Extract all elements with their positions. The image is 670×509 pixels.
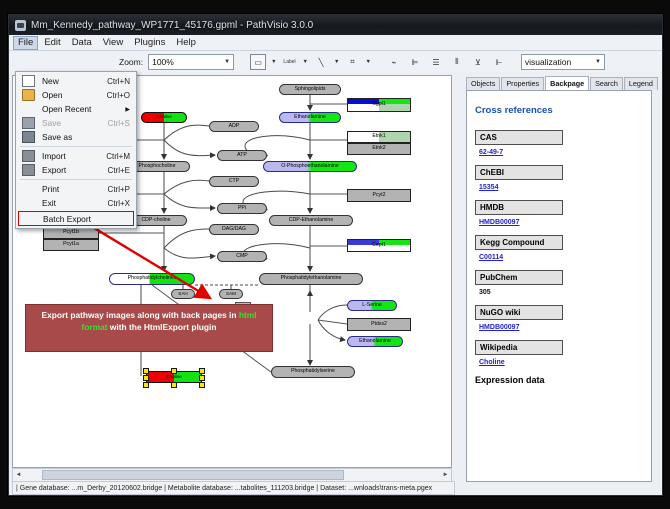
statusbar: | Gene database: ...m_Derby_20120602.bri…: [12, 481, 455, 495]
visualization-value: visualization: [525, 57, 571, 67]
xref-link[interactable]: 62-49-7: [479, 149, 651, 156]
menu-item-label: Open: [42, 90, 63, 100]
tab-legend[interactable]: Legend: [624, 77, 658, 90]
xref-link[interactable]: C00114: [479, 254, 651, 261]
node-label: Phosphatidylserine: [291, 369, 335, 374]
data-node-icon[interactable]: ▭: [250, 54, 266, 70]
gene-pcyt2[interactable]: Pcyt2: [347, 189, 411, 202]
node-label: PPi: [238, 206, 246, 211]
xref-db-label: PubChem: [475, 270, 563, 285]
xref-link[interactable]: HMDB00097: [479, 219, 651, 226]
node-label: Ethanolamine: [294, 115, 326, 120]
file-menu-dropdown: New Ctrl+N Open Ctrl+O Open Recent ▶ Sav…: [15, 71, 137, 229]
callout-text-post: with the HtmlExport plugin: [108, 322, 217, 332]
menu-item-open[interactable]: Open Ctrl+O: [16, 88, 136, 102]
xref-chebi: ChEBI 15354: [475, 165, 651, 191]
import-icon: [22, 150, 35, 162]
menu-help[interactable]: Help: [171, 36, 201, 50]
menu-plugins[interactable]: Plugins: [129, 36, 170, 50]
resize-handle[interactable]: [199, 375, 205, 381]
node-label: CMP: [236, 254, 248, 259]
resize-handle[interactable]: [171, 382, 177, 388]
save-as-icon: [22, 131, 35, 143]
window-title: Mm_Kennedy_pathway_WP1771_45176.gpml - P…: [31, 20, 313, 31]
node-label: Phosphatidylcholines: [128, 276, 177, 281]
node-label: Phosphocholine: [139, 164, 176, 169]
align-rows-icon[interactable]: ☰: [428, 54, 444, 70]
shape-icon[interactable]: ⌗: [344, 54, 360, 70]
menu-item-label: Export: [42, 165, 66, 175]
node-l-serine[interactable]: L-Serine: [347, 300, 397, 311]
gene-label: Etnk2: [372, 146, 385, 151]
node-phosphatidylethanolamine[interactable]: Phosphatidylethanolamine: [259, 273, 363, 285]
chevron-right-icon: ▶: [125, 106, 130, 113]
menu-item-accel: Ctrl+M: [106, 152, 130, 161]
resize-handle[interactable]: [171, 368, 177, 374]
menu-separator: [20, 146, 132, 147]
chevron-down-icon[interactable]: ▼: [271, 59, 276, 65]
visualization-combobox[interactable]: visualization ▼: [521, 54, 605, 70]
resize-handle[interactable]: [143, 382, 149, 388]
line-icon[interactable]: ╲: [313, 54, 329, 70]
node-label: O-Phosphoethanolamine: [281, 164, 338, 169]
node-ethanolamine-bottom[interactable]: Ethanolamine: [347, 336, 403, 347]
xref-wikipedia: Wikipedia Choline: [475, 340, 651, 366]
horizontal-scrollbar[interactable]: ◄ ►: [12, 468, 452, 482]
menu-data[interactable]: Data: [67, 36, 97, 50]
chevron-down-icon[interactable]: ▼: [334, 59, 339, 65]
menu-item-label: Print: [42, 184, 59, 194]
xref-nugo: NuGO wiki HMDB00097: [475, 305, 651, 331]
anchor-icon[interactable]: ⌁: [386, 54, 402, 70]
node-choline[interactable]: Choline: [141, 112, 187, 123]
zoom-combobox[interactable]: 100% ▼: [148, 54, 234, 70]
chevron-down-icon[interactable]: ▼: [303, 59, 308, 65]
application-window: Mm_Kennedy_pathway_WP1771_45176.gpml - P…: [8, 14, 663, 496]
xref-value: 305: [479, 289, 651, 296]
window-titlebar: Mm_Kennedy_pathway_WP1771_45176.gpml - P…: [9, 15, 662, 35]
zoom-value: 100%: [152, 57, 174, 67]
menu-item-batch-export[interactable]: Batch Export: [18, 211, 134, 226]
tab-backpage[interactable]: Backpage: [545, 76, 589, 91]
node-label: CDP-choline: [141, 218, 170, 223]
backpage-content: Cross references CAS 62-49-7 ChEBI 15354…: [466, 90, 652, 482]
align-columns-icon[interactable]: ⦀: [449, 54, 465, 70]
gene-sgpl1[interactable]: Sgpl1: [347, 98, 411, 112]
menu-item-label: Batch Export: [43, 214, 91, 224]
node-adp[interactable]: ADP: [209, 121, 259, 132]
gene-etnk1[interactable]: Etnk1: [347, 131, 411, 143]
pathvisio-icon: [15, 20, 26, 31]
menu-item-label: Import: [42, 151, 66, 161]
gene-label: Pcyt1a: [63, 242, 79, 247]
chevron-down-icon: ▼: [595, 59, 601, 65]
label-icon[interactable]: Label: [282, 54, 298, 70]
node-label: Phosphatidylethanolamine: [281, 276, 342, 281]
right-panel: Objects Properties Backpage Search Legen…: [456, 72, 662, 495]
menu-item-exit[interactable]: Exit Ctrl+X: [16, 196, 136, 210]
node-label: Choline: [156, 115, 172, 120]
node-cmp[interactable]: CMP: [217, 251, 267, 262]
zoom-label: Zoom:: [119, 57, 143, 67]
node-cdp-ethanolamine[interactable]: CDP-Ethanolamine: [269, 215, 353, 226]
node-label: Choline: [166, 375, 182, 380]
save-icon: [22, 117, 35, 129]
gene-ptdss2[interactable]: Ptdss2: [347, 318, 411, 331]
node-dag[interactable]: DAG/DAG: [209, 224, 259, 235]
cross-references-heading: Cross references: [475, 105, 651, 116]
menu-edit[interactable]: Edit: [39, 36, 65, 50]
tab-properties[interactable]: Properties: [501, 77, 544, 90]
menu-item-accel: Ctrl+P: [108, 185, 130, 194]
menu-item-save: Save Ctrl+S: [16, 116, 136, 130]
xref-kegg: Kegg Compound C00114: [475, 235, 651, 261]
menu-item-label: Save: [42, 118, 61, 128]
statusbar-text: | Gene database: ...m_Derby_20120602.bri…: [16, 485, 432, 492]
open-folder-icon: [22, 89, 35, 101]
menu-item-print[interactable]: Print Ctrl+P: [16, 182, 136, 196]
menu-item-accel: Ctrl+S: [108, 119, 130, 128]
node-label: SAM: [226, 292, 236, 297]
screenshot-root: Mm_Kennedy_pathway_WP1771_45176.gpml - P…: [0, 0, 670, 509]
node-label: SAH: [178, 292, 187, 297]
menu-item-import[interactable]: Import Ctrl+M: [16, 149, 136, 163]
node-sam[interactable]: SAM: [219, 289, 243, 299]
xref-db-label: ChEBI: [475, 165, 563, 180]
xref-db-label: Kegg Compound: [475, 235, 563, 250]
resize-handle[interactable]: [143, 375, 149, 381]
menu-item-label: Save as: [42, 132, 72, 142]
callout-text-pre: Export pathway images along with back pa…: [41, 310, 238, 320]
node-label: Sphingolipids: [295, 87, 326, 92]
node-ppi[interactable]: PPi: [217, 203, 267, 214]
node-label: L-Serine: [362, 303, 382, 308]
gene-label: Cept1: [372, 243, 386, 248]
node-ethanolamine-top[interactable]: Ethanolamine: [279, 112, 341, 123]
panel-tabs: Objects Properties Backpage Search Legen…: [456, 76, 659, 90]
xref-db-label: CAS: [475, 130, 563, 145]
menu-item-save-as[interactable]: Save as: [16, 130, 136, 144]
xref-pubchem: PubChem 305: [475, 270, 651, 296]
xref-db-label: HMDB: [475, 200, 563, 215]
node-label: Ethanolamine: [359, 339, 391, 344]
xref-hmdb: HMDB HMDB00097: [475, 200, 651, 226]
resize-handle[interactable]: [199, 368, 205, 374]
menu-item-label: Exit: [42, 198, 56, 208]
gene-label: Sgpl1: [372, 102, 385, 107]
resize-handle[interactable]: [199, 382, 205, 388]
node-phosphatidylcholines[interactable]: Phosphatidylcholines: [109, 273, 195, 285]
tab-search[interactable]: Search: [590, 77, 623, 90]
xref-link[interactable]: HMDB00097: [479, 324, 651, 331]
node-atp[interactable]: ATP: [217, 150, 267, 161]
align-left-icon[interactable]: ⊫: [407, 54, 423, 70]
node-label: ATP: [237, 153, 247, 158]
node-label: CTP: [229, 179, 239, 184]
annotation-callout: Export pathway images along with back pa…: [25, 304, 273, 352]
scroll-right-icon[interactable]: ►: [440, 472, 451, 478]
new-document-icon: [22, 75, 35, 87]
export-icon: [22, 164, 35, 176]
menu-item-open-recent[interactable]: Open Recent ▶: [16, 102, 136, 116]
xref-link[interactable]: 15354: [479, 184, 651, 191]
gene-cept1[interactable]: Cept1: [347, 239, 411, 252]
selected-node-choline[interactable]: Choline: [146, 371, 202, 383]
distribute-icon[interactable]: ⊩: [491, 54, 507, 70]
menu-separator: [20, 179, 132, 180]
menu-item-export[interactable]: Export Ctrl+E: [16, 163, 136, 177]
node-phosphatidylserine[interactable]: Phosphatidylserine: [271, 366, 355, 378]
node-ctp[interactable]: CTP: [209, 176, 259, 187]
menu-item-label: New: [42, 76, 59, 86]
gene-label: Etnk1: [372, 134, 385, 139]
menu-item-label: Open Recent: [42, 104, 91, 114]
menu-item-accel: Ctrl+X: [108, 199, 130, 208]
chevron-down-icon[interactable]: ▼: [365, 59, 370, 65]
xref-db-label: Wikipedia: [475, 340, 563, 355]
node-o-phosphoethanolamine[interactable]: O-Phosphoethanolamine: [263, 161, 357, 172]
node-label: CDP-Ethanolamine: [289, 218, 333, 223]
menu-item-accel: Ctrl+N: [107, 77, 130, 86]
menu-item-accel: Ctrl+O: [107, 91, 130, 100]
menubar: File Edit Data View Plugins Help: [9, 35, 662, 51]
stack-icon[interactable]: ⊻: [470, 54, 486, 70]
tab-objects[interactable]: Objects: [466, 77, 500, 90]
expression-data-heading: Expression data: [475, 375, 651, 385]
gene-label: Pcyt1b: [63, 230, 79, 235]
gene-etnk2[interactable]: Etnk2: [347, 143, 411, 155]
menu-item-accel: Ctrl+E: [108, 166, 130, 175]
node-sah[interactable]: SAH: [171, 289, 195, 299]
xref-cas: CAS 62-49-7: [475, 130, 651, 156]
chevron-down-icon: ▼: [224, 59, 230, 65]
menu-view[interactable]: View: [98, 36, 128, 50]
gene-label: Pcyt2: [373, 193, 386, 198]
scroll-left-icon[interactable]: ◄: [13, 472, 24, 478]
gene-label: Ptdss2: [371, 322, 387, 327]
gene-pcyt1a[interactable]: Pcyt1a: [43, 239, 99, 251]
node-label: DAG/DAG: [222, 227, 246, 232]
xref-link[interactable]: Choline: [479, 359, 651, 366]
node-label: ADP: [229, 124, 240, 129]
scrollbar-thumb[interactable]: [42, 470, 344, 480]
xref-db-label: NuGO wiki: [475, 305, 563, 320]
node-sphingolipids[interactable]: Sphingolipids: [279, 84, 341, 95]
menu-file[interactable]: File: [13, 36, 38, 50]
menu-item-new[interactable]: New Ctrl+N: [16, 74, 136, 88]
resize-handle[interactable]: [143, 368, 149, 374]
